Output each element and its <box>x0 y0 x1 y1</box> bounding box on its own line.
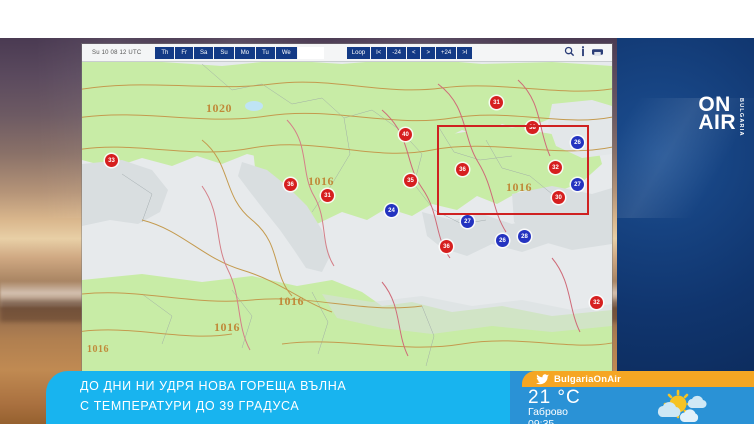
day-tab-we[interactable]: We <box>276 47 297 59</box>
station-marker[interactable]: 33 <box>105 154 118 167</box>
station-marker[interactable]: 24 <box>385 204 398 217</box>
day-tab-mo[interactable]: Mo <box>235 47 255 59</box>
isobar-label: 1016 <box>308 174 334 189</box>
last-frame-button[interactable]: >I <box>457 47 472 59</box>
plus-24h-button[interactable]: +24 <box>436 47 456 59</box>
twitter-handle-bar[interactable]: BulgariaOnAir <box>522 371 754 387</box>
station-marker[interactable]: 31 <box>321 189 334 202</box>
isobar-label: 1020 <box>206 101 232 116</box>
loop-button[interactable]: Loop <box>347 47 370 59</box>
day-tab-sa[interactable]: Sa <box>194 47 213 59</box>
day-tab-fr[interactable]: Fr <box>175 47 193 59</box>
onair-side-panel: ON AIR BULGARIA <box>617 38 754 424</box>
station-marker[interactable]: 36 <box>284 178 297 191</box>
station-marker[interactable]: 40 <box>399 128 412 141</box>
day-tab-th[interactable]: Th <box>155 47 174 59</box>
sun-cloud-icon <box>650 389 708 423</box>
print-icon[interactable] <box>591 46 604 57</box>
channel-logo: ON AIR BULGARIA <box>698 96 744 137</box>
step-back-button[interactable]: < <box>407 47 421 59</box>
station-marker[interactable]: 31 <box>490 96 503 109</box>
toolbar-icons[interactable] <box>564 46 604 57</box>
day-tab-selected[interactable] <box>298 47 324 59</box>
station-marker[interactable]: 36 <box>440 240 453 253</box>
news-headline-line1: ДО ДНИ НИ УДРЯ НОВА ГОРЕЩА ВЪЛНА <box>80 379 346 393</box>
search-icon[interactable] <box>564 46 575 57</box>
station-marker[interactable]: 28 <box>518 230 531 243</box>
isobar-label: 1016 <box>278 294 304 309</box>
map-timestamp: Su 10 08 12 UTC <box>92 50 141 56</box>
day-tab-tu[interactable]: Tu <box>256 47 275 59</box>
isobar-label: 1016 <box>87 344 109 355</box>
station-marker[interactable]: 35 <box>404 174 417 187</box>
step-forward-button[interactable]: > <box>421 47 435 59</box>
weather-map[interactable]: 1020 1016 1016 1016 1016 1016 33 36 35 4… <box>82 44 612 378</box>
news-ticker-banner: ДО ДНИ НИ УДРЯ НОВА ГОРЕЩА ВЪЛНА С ТЕМПЕ… <box>46 371 510 424</box>
info-icon[interactable] <box>580 46 586 57</box>
news-headline-line2: С ТЕМПЕРАТУРИ ДО 39 ГРАДУСА <box>80 399 299 413</box>
weather-city: Габрово <box>528 406 568 418</box>
selection-rectangle-bulgaria <box>437 125 589 215</box>
map-toolbar[interactable]: Su 10 08 12 UTC Th Fr Sa Su Mo Tu We Loo… <box>82 44 612 62</box>
weather-time: 09:35 <box>528 418 554 424</box>
station-marker[interactable]: 27 <box>461 215 474 228</box>
station-marker[interactable]: 26 <box>496 234 509 247</box>
broadcast-screen: ON AIR BULGARIA <box>0 0 754 424</box>
minus-24h-button[interactable]: -24 <box>387 47 406 59</box>
day-tab-su[interactable]: Su <box>214 47 233 59</box>
logo-vertical-bulgaria: BULGARIA <box>738 98 744 137</box>
isobar-label: 1016 <box>214 320 240 335</box>
twitter-icon <box>536 374 549 385</box>
first-frame-button[interactable]: I< <box>371 47 386 59</box>
top-white-strip <box>0 0 754 38</box>
day-tabs[interactable]: Th Fr Sa Su Mo Tu We <box>155 47 324 59</box>
station-marker[interactable]: 32 <box>590 296 603 309</box>
twitter-handle-text: BulgariaOnAir <box>554 374 621 385</box>
logo-line-air: AIR <box>698 114 736 132</box>
weather-widget: BulgariaOnAir 21 °C Габрово 09:35 <box>510 371 754 424</box>
loop-controls[interactable]: Loop I< -24 < > +24 >I <box>347 47 474 59</box>
